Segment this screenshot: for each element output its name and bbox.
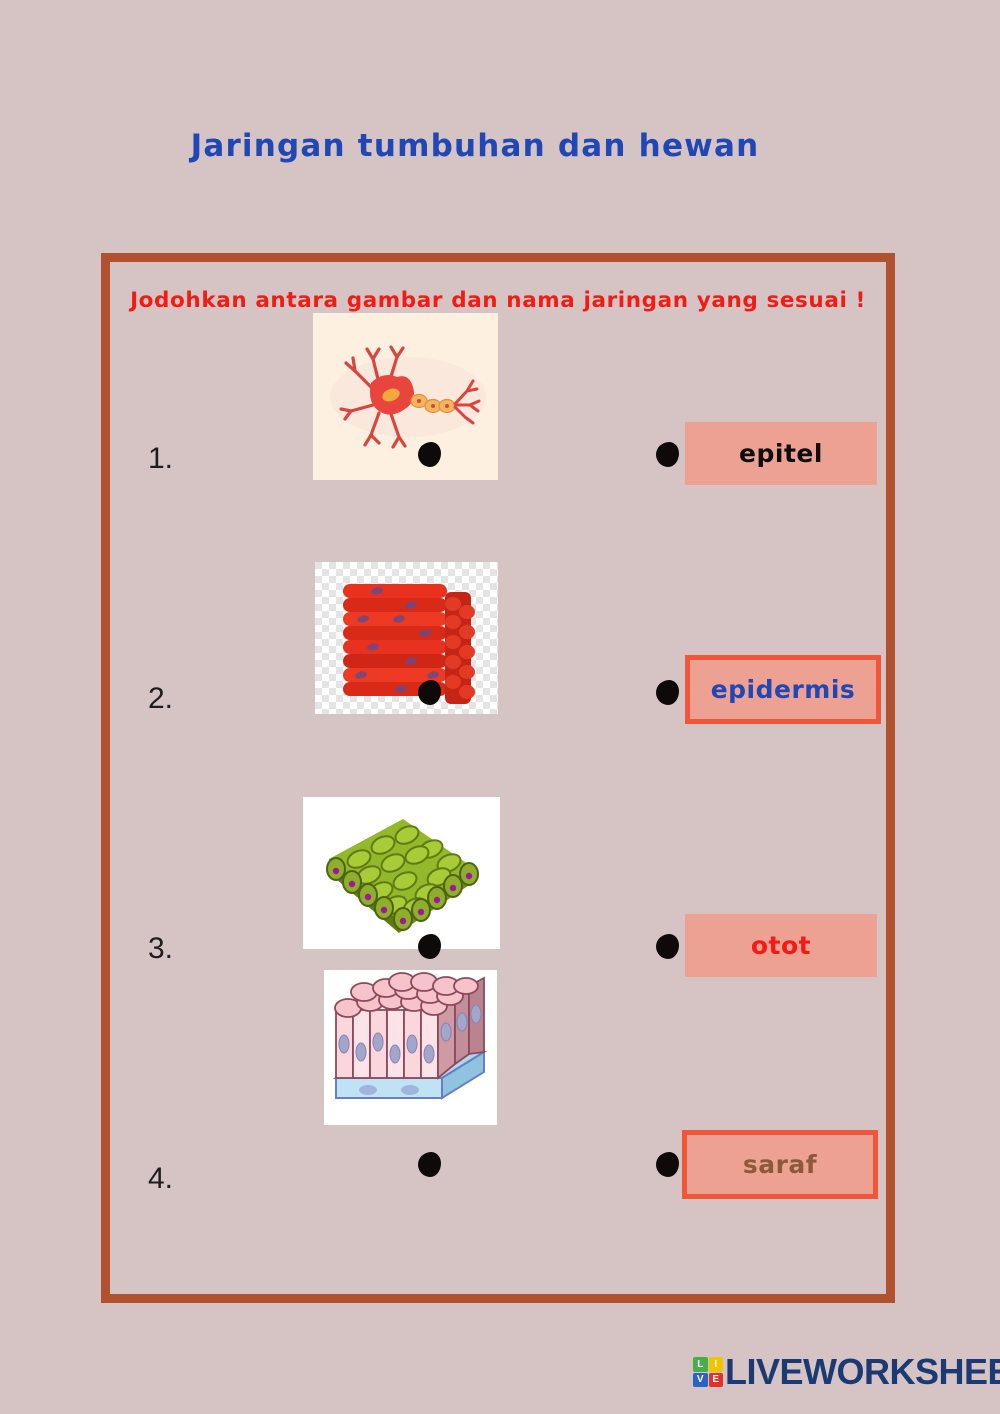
answer-label: epitel [739,439,823,468]
image-plant-epidermis-tissue [303,797,500,949]
image-columnar-epithelium [324,970,497,1125]
answer-label: epidermis [711,675,856,704]
connector-dot-left-4[interactable] [418,1152,441,1177]
logo-cell-i: I [709,1357,724,1372]
item-number-1: 1. [148,442,173,476]
liveworksheets-logo-icon: L I V E [693,1357,723,1387]
answer-option-epitel[interactable]: epitel [685,422,877,485]
worksheet-frame: Jodohkan antara gambar dan nama jaringan… [101,253,895,1303]
answer-option-epidermis[interactable]: epidermis [685,655,881,724]
image-neuron-nerve-cell [313,313,498,480]
connector-dot-right-4[interactable] [656,1152,679,1177]
liveworksheets-brand-text: LIVEWORKSHEETS [725,1354,1000,1390]
connector-dot-right-1[interactable] [656,442,679,467]
answer-label: saraf [743,1150,817,1179]
liveworksheets-logo[interactable]: L I V E LIVEWORKSHEETS [693,1354,1000,1390]
instruction-text: Jodohkan antara gambar dan nama jaringan… [110,288,886,313]
answer-option-saraf[interactable]: saraf [682,1130,878,1199]
answer-option-otot[interactable]: otot [685,914,877,977]
connector-dot-left-2[interactable] [418,680,441,705]
logo-cell-e: E [709,1373,724,1388]
connector-dot-left-1[interactable] [418,442,441,467]
image-muscle-tissue [315,562,498,714]
plant-epidermis-icon [303,797,500,949]
item-number-4: 4. [148,1162,173,1196]
item-number-3: 3. [148,932,173,966]
connector-dot-right-2[interactable] [656,680,679,705]
logo-cell-v: V [693,1373,708,1388]
page-title: Jaringan tumbuhan dan hewan [0,128,950,164]
logo-cell-l: L [693,1357,708,1372]
neuron-icon [313,313,498,480]
connector-dot-right-3[interactable] [656,934,679,959]
connector-dot-left-3[interactable] [418,934,441,959]
columnar-epithelium-icon [324,970,497,1125]
item-number-2: 2. [148,682,173,716]
answer-label: otot [751,931,811,960]
muscle-tissue-icon [315,562,498,714]
